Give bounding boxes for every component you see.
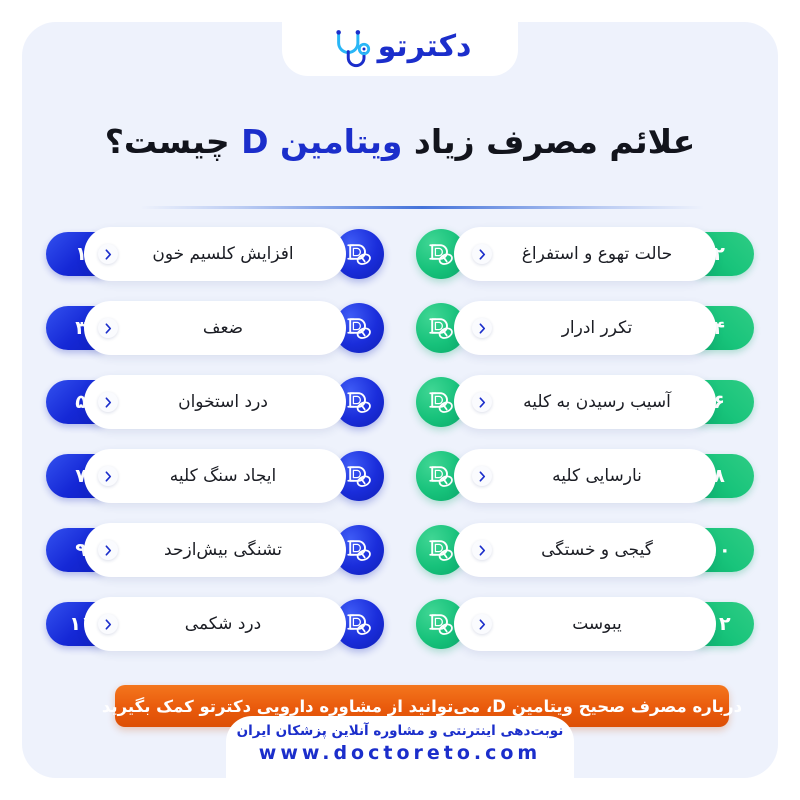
chevron-right-icon[interactable]	[98, 318, 118, 338]
symptom-pill[interactable]: آسیب رسیدن به کلیه	[454, 375, 716, 429]
chevron-right-icon[interactable]	[98, 540, 118, 560]
footer-url[interactable]: www.doctoreto.com	[259, 742, 541, 764]
symptom-row[interactable]: ۸نارسایی کلیه	[414, 449, 754, 503]
symptom-label: ایجاد سنگ کلیه	[118, 466, 328, 486]
symptom-row[interactable]: ۱افزایش کلسیم خون	[46, 227, 386, 281]
symptom-label: افزایش کلسیم خون	[118, 244, 328, 264]
stethoscope-icon	[329, 28, 371, 70]
symptom-row[interactable]: ۹تشنگی بیش‌ازحد	[46, 523, 386, 577]
chevron-right-icon[interactable]	[98, 614, 118, 634]
symptom-label: یبوست	[492, 614, 702, 634]
title-part-before: علائم مصرف زیاد	[402, 122, 695, 161]
symptom-pill[interactable]: درد استخوان	[84, 375, 346, 429]
symptom-label: تشنگی بیش‌ازحد	[118, 540, 328, 560]
symptom-pill[interactable]: ایجاد سنگ کلیه	[84, 449, 346, 503]
symptom-row[interactable]: ۴تکرر ادرار	[414, 301, 754, 355]
chevron-right-icon[interactable]	[98, 392, 118, 412]
title-divider	[140, 206, 704, 209]
symptom-pill[interactable]: افزایش کلسیم خون	[84, 227, 346, 281]
cta-label: درباره مصرف صحیح ویتامین D، می‌توانید از…	[102, 697, 742, 716]
symptom-label: حالت تهوع و استفراغ	[492, 244, 702, 264]
chevron-right-icon[interactable]	[472, 392, 492, 412]
brand-wordmark: دکترتو	[378, 32, 472, 66]
symptom-label: ضعف	[118, 318, 328, 338]
symptom-pill[interactable]: تکرر ادرار	[454, 301, 716, 355]
symptom-row[interactable]: ۳ضعف	[46, 301, 386, 355]
chevron-right-icon[interactable]	[472, 614, 492, 634]
symptom-label: آسیب رسیدن به کلیه	[492, 392, 702, 412]
chevron-right-icon[interactable]	[472, 466, 492, 486]
symptom-row[interactable]: ۲حالت تهوع و استفراغ	[414, 227, 754, 281]
poster-card: دکترتو علائم مصرف زیاد ویتامین D چیست؟ ۱…	[22, 22, 778, 778]
title-part-after: چیست؟	[105, 122, 241, 161]
symptom-row[interactable]: ۱۱درد شکمی	[46, 597, 386, 651]
symptom-label: درد شکمی	[118, 614, 328, 634]
symptom-column-left: ۲حالت تهوع و استفراغ۴تکرر ادرار۶آسیب رسی…	[414, 227, 754, 651]
symptom-pill[interactable]: حالت تهوع و استفراغ	[454, 227, 716, 281]
symptom-label: درد استخوان	[118, 392, 328, 412]
footer: نوبت‌دهی اینترنتی و مشاوره آنلاین پزشکان…	[226, 716, 574, 778]
symptom-columns: ۱افزایش کلسیم خون۳ضعف۵درد استخوان۷ایجاد …	[46, 227, 754, 651]
chevron-right-icon[interactable]	[472, 318, 492, 338]
symptom-row[interactable]: ۱۲یبوست	[414, 597, 754, 651]
chevron-right-icon[interactable]	[98, 466, 118, 486]
title-highlight: ویتامین D	[241, 122, 402, 161]
symptom-pill[interactable]: درد شکمی	[84, 597, 346, 651]
chevron-right-icon[interactable]	[98, 244, 118, 264]
symptom-row[interactable]: ۷ایجاد سنگ کلیه	[46, 449, 386, 503]
footer-tagline: نوبت‌دهی اینترنتی و مشاوره آنلاین پزشکان…	[237, 723, 564, 739]
symptom-row[interactable]: ۶آسیب رسیدن به کلیه	[414, 375, 754, 429]
symptom-pill[interactable]: ضعف	[84, 301, 346, 355]
symptom-row[interactable]: ۵درد استخوان	[46, 375, 386, 429]
symptom-pill[interactable]: نارسایی کلیه	[454, 449, 716, 503]
symptom-pill[interactable]: گیجی و خستگی	[454, 523, 716, 577]
symptom-column-right: ۱افزایش کلسیم خون۳ضعف۵درد استخوان۷ایجاد …	[46, 227, 386, 651]
symptom-pill[interactable]: تشنگی بیش‌ازحد	[84, 523, 346, 577]
chevron-right-icon[interactable]	[472, 540, 492, 560]
symptom-label: تکرر ادرار	[492, 318, 702, 338]
symptom-pill[interactable]: یبوست	[454, 597, 716, 651]
symptom-label: گیجی و خستگی	[492, 540, 702, 560]
brand-logo: دکترتو	[282, 22, 518, 76]
infographic-poster: دکترتو علائم مصرف زیاد ویتامین D چیست؟ ۱…	[0, 0, 800, 800]
symptom-row[interactable]: ۱۰گیجی و خستگی	[414, 523, 754, 577]
symptom-label: نارسایی کلیه	[492, 466, 702, 486]
chevron-right-icon[interactable]	[472, 244, 492, 264]
page-title: علائم مصرف زیاد ویتامین D چیست؟	[22, 118, 778, 166]
